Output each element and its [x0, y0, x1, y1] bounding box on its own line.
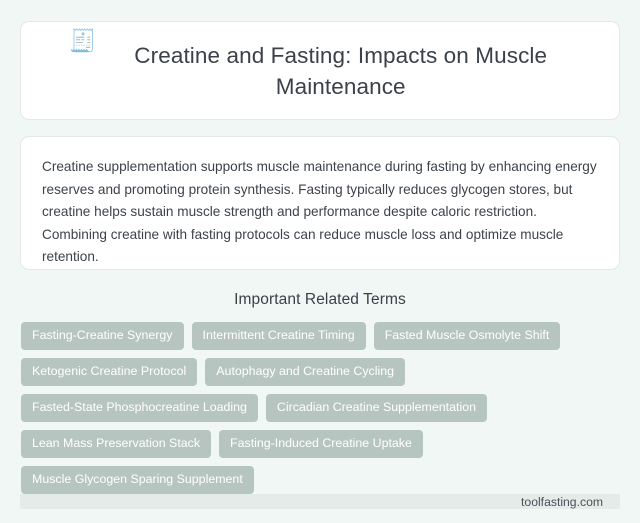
receipt-icon: 🧾 — [69, 24, 96, 58]
related-terms-list: Fasting-Creatine Synergy Intermittent Cr… — [20, 322, 620, 494]
summary-text: Creatine supplementation supports muscle… — [42, 156, 598, 269]
term-tag[interactable]: Intermittent Creatine Timing — [192, 322, 366, 350]
related-terms-section: Important Related Terms Fasting-Creatine… — [20, 291, 620, 494]
term-tag[interactable]: Fasting-Induced Creatine Uptake — [219, 430, 423, 458]
term-tag[interactable]: Autophagy and Creatine Cycling — [205, 358, 405, 386]
title-row: 🧾 Creatine and Fasting: Impacts on Muscl… — [47, 24, 593, 116]
term-tag[interactable]: Circadian Creatine Supplementation — [266, 394, 487, 422]
term-tag[interactable]: Ketogenic Creatine Protocol — [21, 358, 197, 386]
page-title: Creatine and Fasting: Impacts on Muscle … — [111, 40, 571, 102]
term-tag[interactable]: Muscle Glycogen Sparing Supplement — [21, 466, 254, 494]
term-tag[interactable]: Fasting-Creatine Synergy — [21, 322, 184, 350]
page-footer: toolfasting.com — [20, 494, 620, 509]
summary-card: Creatine supplementation supports muscle… — [20, 136, 620, 270]
related-terms-heading: Important Related Terms — [20, 291, 620, 309]
page-root: 🧾 Creatine and Fasting: Impacts on Muscl… — [0, 0, 640, 523]
footer-bottom-spacer — [20, 509, 620, 523]
term-tag[interactable]: Lean Mass Preservation Stack — [21, 430, 211, 458]
title-card: 🧾 Creatine and Fasting: Impacts on Muscl… — [20, 21, 620, 120]
term-tag[interactable]: Fasted Muscle Osmolyte Shift — [374, 322, 561, 350]
term-tag[interactable]: Fasted-State Phosphocreatine Loading — [21, 394, 258, 422]
footer-domain: toolfasting.com — [521, 495, 603, 509]
